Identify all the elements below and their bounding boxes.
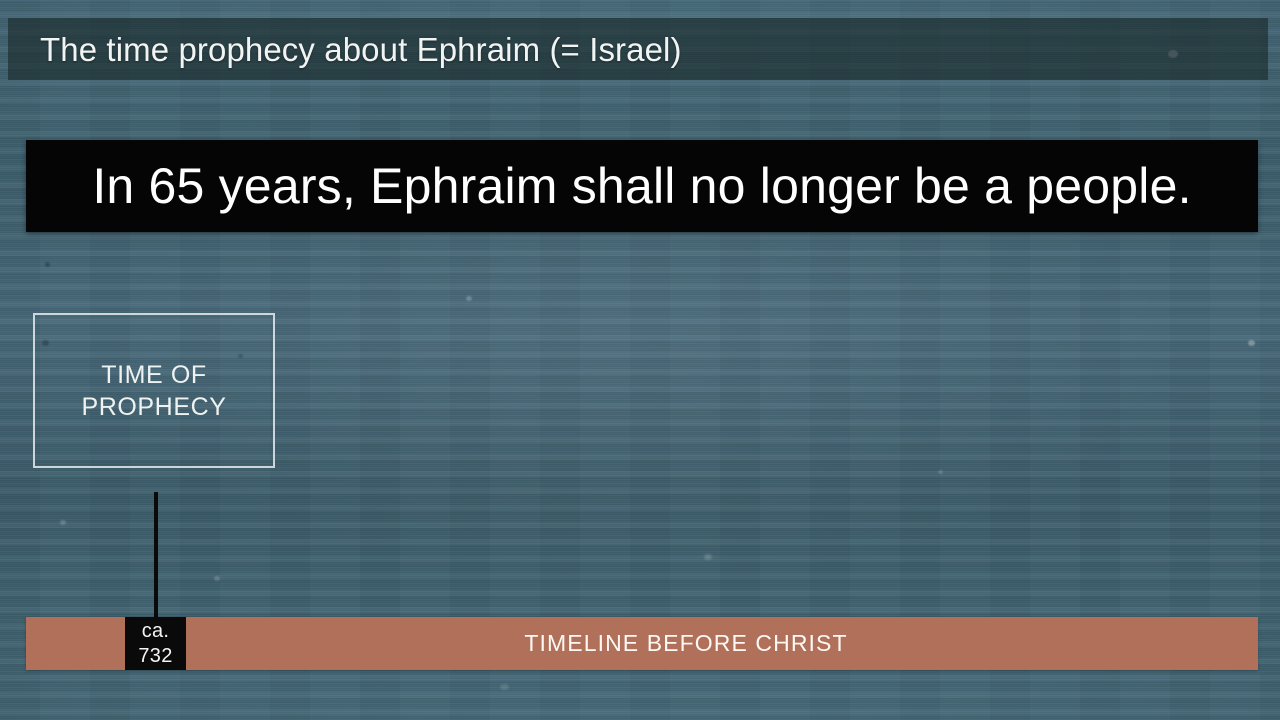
quote-banner: In 65 years, Ephraim shall no longer be …: [26, 140, 1258, 232]
texture-speck: [704, 554, 712, 560]
texture-speck: [214, 576, 220, 581]
texture-speck: [60, 520, 66, 525]
date-marker-prefix: ca.: [142, 619, 170, 643]
slide-canvas: The time prophecy about Ephraim (= Israe…: [0, 0, 1280, 720]
texture-speck: [1248, 340, 1255, 346]
prophecy-box-line-1: TIME OF: [101, 359, 207, 391]
slide-title-band: The time prophecy about Ephraim (= Israe…: [8, 18, 1268, 80]
texture-speck: [45, 262, 50, 267]
timeline-bar: TIMELINE BEFORE CHRIST: [26, 617, 1258, 670]
prophecy-connector-line: [154, 492, 158, 619]
timeline-label: TIMELINE BEFORE CHRIST: [524, 630, 847, 657]
page-title: The time prophecy about Ephraim (= Israe…: [8, 33, 682, 66]
date-marker-732: ca. 732: [125, 617, 186, 670]
quote-text: In 65 years, Ephraim shall no longer be …: [92, 161, 1191, 211]
prophecy-box-line-2: PROPHECY: [81, 391, 226, 423]
date-marker-year: 732: [138, 644, 172, 668]
time-of-prophecy-box: TIME OF PROPHECY: [33, 313, 275, 468]
texture-speck: [466, 296, 472, 301]
texture-speck: [500, 684, 509, 690]
texture-speck: [938, 470, 943, 474]
